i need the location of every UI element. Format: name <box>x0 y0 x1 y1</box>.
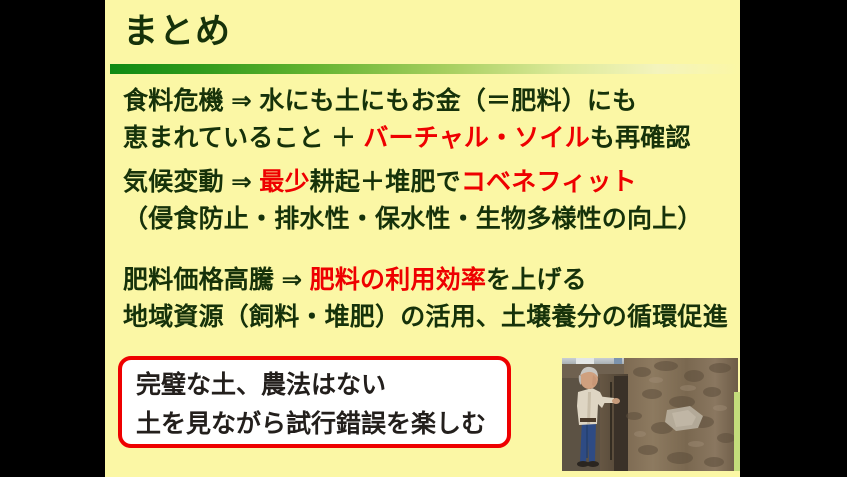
highlight-run: 肥料の利用効率 <box>310 266 486 294</box>
paragraph-line: 恵まれていること ＋ バーチャル・ソイルも再確認 <box>123 120 691 157</box>
slide-canvas: まとめ 食料危機 ⇒ 水にも土にもお金（＝肥料）にも 恵まれていること ＋ バー… <box>105 0 740 477</box>
page-title: まとめ <box>123 10 231 54</box>
paragraph-line: 地域資源（飼料・堆肥）の活用、土壌養分の循環促進 <box>123 299 728 336</box>
text-run: 食料危機 ⇒ 水にも土にもお金（＝肥料）にも <box>123 87 637 115</box>
letterbox-right <box>740 0 847 477</box>
paragraph-line: 食料危機 ⇒ 水にも土にもお金（＝肥料）にも <box>123 83 691 120</box>
text-run: （侵食防止・排水性・保水性・生物多様性の向上） <box>123 205 703 233</box>
text-run: 肥料価格高騰 ⇒ <box>123 266 310 294</box>
soil-pit-illustration <box>562 358 738 471</box>
text-run: も再確認 <box>590 124 691 152</box>
callout-line-1: 完璧な土、農法はない <box>136 366 486 405</box>
paragraph-line: 肥料価格高騰 ⇒ 肥料の利用効率を上げる <box>123 262 728 299</box>
slide-screen: まとめ 食料危機 ⇒ 水にも土にもお金（＝肥料）にも 恵まれていること ＋ バー… <box>0 0 847 477</box>
text-run: 地域資源（飼料・堆肥）の活用、土壌養分の循環促進 <box>123 303 728 331</box>
title-divider <box>110 64 740 74</box>
paragraph-fertilizer-price: 肥料価格高騰 ⇒ 肥料の利用効率を上げる 地域資源（飼料・堆肥）の活用、土壌養分… <box>123 262 728 336</box>
paragraph-line: 気候変動 ⇒ 最少耕起＋堆肥でコベネフィット <box>123 164 703 201</box>
callout-box: 完璧な土、農法はない 土を見ながら試行錯誤を楽しむ <box>118 356 511 448</box>
callout-line-2: 土を見ながら試行錯誤を楽しむ <box>136 405 486 444</box>
text-run: 気候変動 ⇒ <box>123 168 259 196</box>
paragraph-climate-change: 気候変動 ⇒ 最少耕起＋堆肥でコベネフィット （侵食防止・排水性・保水性・生物多… <box>123 164 703 238</box>
soil-pit-photo <box>562 358 738 471</box>
text-run: 恵まれていること ＋ <box>123 124 363 152</box>
paragraph-food-crisis: 食料危機 ⇒ 水にも土にもお金（＝肥料）にも 恵まれていること ＋ バーチャル・… <box>123 83 691 157</box>
callout-text: 完璧な土、農法はない 土を見ながら試行錯誤を楽しむ <box>136 366 486 444</box>
letterbox-left <box>0 0 105 477</box>
highlight-run: 最少 <box>259 168 309 196</box>
paragraph-line: （侵食防止・排水性・保水性・生物多様性の向上） <box>123 201 703 238</box>
text-run: 耕起＋堆肥で <box>310 168 461 196</box>
highlight-run: コベネフィット <box>461 168 637 196</box>
highlight-run: バーチャル・ソイル <box>363 124 590 152</box>
photo-frame <box>562 358 738 471</box>
text-run: を上げる <box>486 266 587 294</box>
